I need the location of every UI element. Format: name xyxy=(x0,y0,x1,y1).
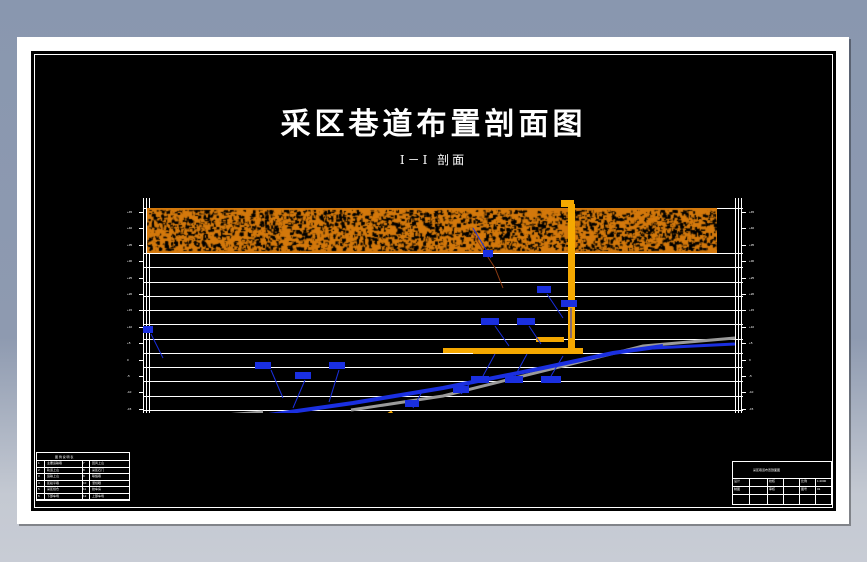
legend-cell: 7 xyxy=(83,461,85,465)
axis-tick-right xyxy=(742,245,746,246)
annotation-tag[interactable] xyxy=(537,286,551,293)
legend-cell: 4 xyxy=(38,481,40,485)
axis-label-right: +45 xyxy=(749,210,754,214)
annotation-tag[interactable] xyxy=(517,318,535,325)
axis-tick-left xyxy=(139,245,143,246)
axis-tick-left xyxy=(139,360,143,361)
axis-tick-left xyxy=(139,327,143,328)
annotation-tag[interactable] xyxy=(329,362,345,369)
axis-label-left: +35 xyxy=(127,243,132,247)
axis-label-right: +15 xyxy=(749,308,754,312)
axis-label-left: 0 xyxy=(127,358,129,362)
legend-cell: 区段平巷 xyxy=(47,481,59,485)
axis-label-right: +30 xyxy=(749,259,754,263)
cad-viewer: 采区巷道布置剖面图 Ⅰ－Ⅰ 剖面 xyxy=(0,0,867,562)
roadway-works xyxy=(143,198,743,413)
annotation-tags-right xyxy=(143,250,577,383)
title-block-field: 01 xyxy=(817,487,820,491)
legend-cell: 12 xyxy=(83,494,86,498)
axis-label-left: +45 xyxy=(127,210,132,214)
axis-tick-right xyxy=(742,310,746,311)
legend-cell: 2 xyxy=(38,468,40,472)
axis-tick-left xyxy=(139,343,143,344)
legend-cell: 10 xyxy=(83,481,86,485)
title-block-field: 比例 xyxy=(801,479,807,483)
axis-label-left: +25 xyxy=(127,276,132,280)
title-block-field: 审核 xyxy=(769,487,775,491)
legend-cell: 轨道上山 xyxy=(47,468,59,472)
legend-cell: 采区石门 xyxy=(92,468,104,472)
page-subtitle: Ⅰ－Ⅰ 剖面 xyxy=(31,151,836,168)
axis-label-left: +10 xyxy=(127,325,132,329)
axis-label-right: +10 xyxy=(749,325,754,329)
axis-tick-right xyxy=(742,360,746,361)
annotation-tag[interactable] xyxy=(541,376,561,383)
legend-cell: 主要运输巷 xyxy=(47,461,62,465)
axis-tick-right xyxy=(742,392,746,393)
annotation-tag[interactable] xyxy=(295,372,311,379)
title-block-title: 采区巷道布置剖面图 xyxy=(753,468,780,472)
axis-tick-left xyxy=(139,228,143,229)
axis-tick-right xyxy=(742,343,746,344)
annotation-tag[interactable] xyxy=(505,376,523,383)
annotation-tag[interactable] xyxy=(453,386,469,393)
legend-title-block[interactable]: 1主要运输巷7回风上山2轨道上山8采区石门3运输上山9联络巷4区段平巷10溜煤眼… xyxy=(36,452,130,501)
axis-tick-left xyxy=(139,392,143,393)
title-block-field: 1:2000 xyxy=(817,479,826,483)
axis-label-right: +25 xyxy=(749,276,754,280)
axis-label-right: +5 xyxy=(749,341,752,345)
annotation-tag[interactable] xyxy=(481,318,499,325)
axis-tick-right xyxy=(742,327,746,328)
legend-cell: 运输上山 xyxy=(47,474,59,478)
axis-tick-left xyxy=(139,310,143,311)
axis-label-right: -5 xyxy=(749,374,752,378)
axis-label-left: +40 xyxy=(127,226,132,230)
annotation-leaders-far-left xyxy=(151,334,163,358)
title-block-field: 图号 xyxy=(801,487,807,491)
legend-cell: 采区煤仓 xyxy=(47,487,59,491)
legend-cell: 11 xyxy=(83,487,86,491)
axis-tick-right xyxy=(742,278,746,279)
axis-label-right: +35 xyxy=(749,243,754,247)
axis-tick-left xyxy=(139,212,143,213)
legend-cell: 溜煤眼 xyxy=(92,481,101,485)
axis-label-left: +5 xyxy=(127,341,130,345)
drawing-title-block[interactable]: 采区巷道布置剖面图 设计校核比例1:2000制图审核图号01 xyxy=(732,461,832,505)
legend-cell: 回风上山 xyxy=(92,461,104,465)
axis-tick-right xyxy=(742,376,746,377)
section-plot: +45+40+35+30+25+20+15+10+50-5-10-15+45+4… xyxy=(143,198,743,413)
shaft-collar xyxy=(561,200,574,207)
page-title: 采区巷道布置剖面图 xyxy=(31,99,836,143)
axis-label-left: +15 xyxy=(127,308,132,312)
axis-label-right: +40 xyxy=(749,226,754,230)
axis-tick-right xyxy=(742,294,746,295)
axis-tick-left xyxy=(139,261,143,262)
horizontal-main-roadway xyxy=(473,348,583,354)
axis-tick-left xyxy=(139,278,143,279)
axis-tick-left xyxy=(139,376,143,377)
axis-label-left: +30 xyxy=(127,259,132,263)
axis-label-right: +20 xyxy=(749,292,754,296)
legend-cell: 3 xyxy=(38,474,40,478)
legend-cell: 5 xyxy=(38,487,40,491)
legend-cell: 下部车场 xyxy=(47,494,59,498)
title-block-field: 校核 xyxy=(769,479,775,483)
axis-tick-right xyxy=(742,228,746,229)
axis-label-right: 0 xyxy=(749,358,751,362)
legend-cell: 1 xyxy=(38,461,40,465)
annotation-tag[interactable] xyxy=(483,250,493,257)
annotation-tag[interactable] xyxy=(561,300,577,307)
title-block-field: 制图 xyxy=(734,487,740,491)
axis-label-left: -10 xyxy=(127,390,131,394)
axis-label-left: -15 xyxy=(127,407,131,411)
axis-label-left: -5 xyxy=(127,374,130,378)
annotation-tag[interactable] xyxy=(255,362,271,369)
axis-label-left: +20 xyxy=(127,292,132,296)
annotation-tag[interactable] xyxy=(405,400,419,407)
annotation-tag[interactable] xyxy=(471,376,489,383)
legend-cell: 绞车房 xyxy=(92,487,101,491)
legend-header: 图 例 说 明 表 xyxy=(55,455,73,459)
legend-cell: 联络巷 xyxy=(92,474,101,478)
annotation-tag[interactable] xyxy=(143,326,153,333)
axis-tick-left xyxy=(139,409,143,410)
legend-row-divider xyxy=(37,499,129,500)
title-block-field: 设计 xyxy=(734,479,740,483)
legend-cell: 9 xyxy=(83,474,85,478)
upper-station-right xyxy=(536,337,564,342)
axis-tick-right xyxy=(742,212,746,213)
inclined-roadway-main xyxy=(233,346,663,413)
drawing-canvas[interactable]: 采区巷道布置剖面图 Ⅰ－Ⅰ 剖面 xyxy=(31,51,836,511)
legend-cell: 上部车场 xyxy=(92,494,104,498)
axis-label-right: -10 xyxy=(749,390,753,394)
ground-line-left xyxy=(161,412,263,413)
axis-label-right: -15 xyxy=(749,407,753,411)
axis-tick-right xyxy=(742,261,746,262)
legend-cell: 6 xyxy=(38,494,40,498)
legend-cell: 8 xyxy=(83,468,85,472)
axis-tick-left xyxy=(139,294,143,295)
axis-tick-right xyxy=(742,409,746,410)
seam-leader-line xyxy=(473,234,503,288)
roadway-junction xyxy=(443,348,475,353)
